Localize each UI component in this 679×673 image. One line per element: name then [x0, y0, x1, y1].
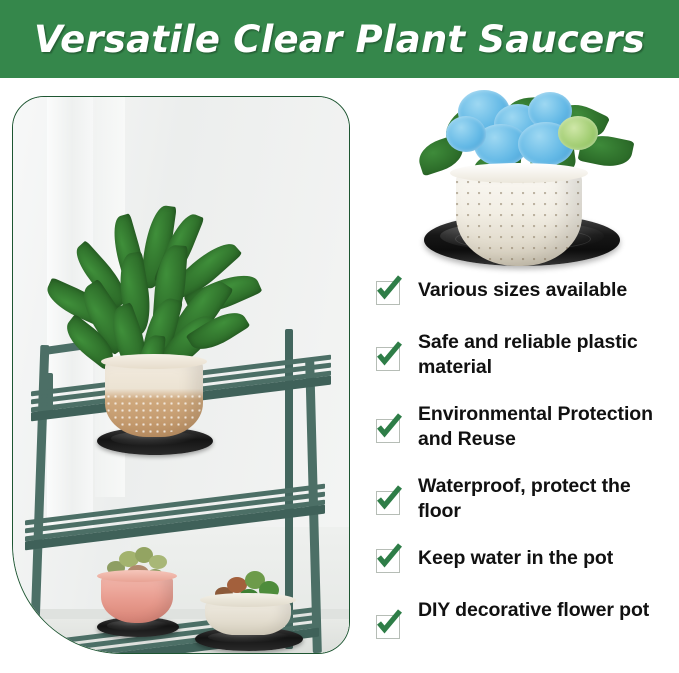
- page-title: Versatile Clear Plant Saucers: [34, 18, 645, 61]
- check-icon: [376, 281, 400, 305]
- feature-item-diy-decorative: DIY decorative flower pot: [376, 598, 672, 639]
- white-speckled-pot: [456, 170, 582, 266]
- header-banner: Versatile Clear Plant Saucers: [0, 0, 679, 78]
- pot-pink-succulent: [101, 575, 173, 623]
- feature-item-waterproof: Waterproof, protect the floor: [376, 474, 672, 524]
- feature-label: Safe and reliable plastic material: [418, 330, 672, 380]
- feature-item-various-sizes: Various sizes available: [376, 278, 672, 308]
- pot-rim: [450, 163, 588, 183]
- pot-rim: [101, 354, 207, 369]
- feature-label: Environmental Protection and Reuse: [418, 402, 672, 452]
- feature-item-environmental: Environmental Protection and Reuse: [376, 402, 672, 452]
- feature-label: Keep water in the pot: [418, 546, 613, 571]
- check-icon: [376, 615, 400, 639]
- shelf-middle: [25, 484, 325, 551]
- check-icon: [376, 347, 400, 371]
- pot-rim: [200, 593, 296, 607]
- feature-item-safe-plastic: Safe and reliable plastic material: [376, 330, 672, 380]
- feature-list: Various sizes available Safe and reliabl…: [376, 278, 672, 639]
- feature-item-keep-water: Keep water in the pot: [376, 546, 672, 576]
- feature-label: DIY decorative flower pot: [418, 598, 649, 623]
- pot-cream-succulent: [205, 599, 291, 635]
- pot-texture: [105, 393, 203, 433]
- feature-label: Various sizes available: [418, 278, 627, 303]
- check-icon: [376, 419, 400, 443]
- check-icon: [376, 491, 400, 515]
- check-icon: [376, 549, 400, 573]
- pot-rim: [97, 570, 177, 582]
- plant-stand-photo: [12, 96, 350, 654]
- hydrangea-product-photo: [400, 88, 666, 274]
- feature-label: Waterproof, protect the floor: [418, 474, 672, 524]
- pot-peace-lily: [105, 359, 203, 437]
